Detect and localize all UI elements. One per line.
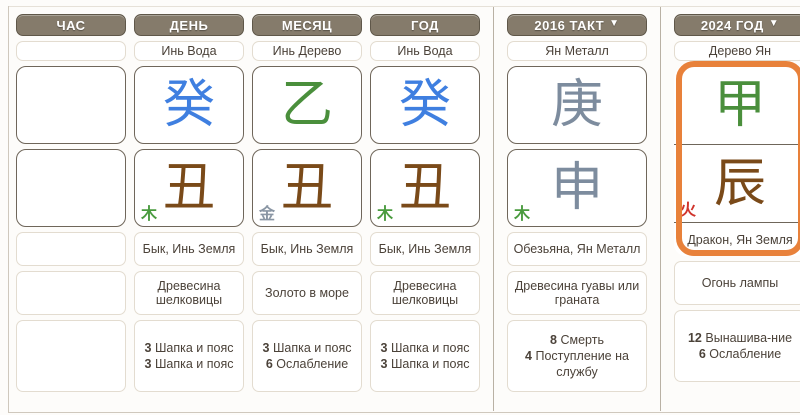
pillar-column-luck-2016: 2016 ТАКТ ▼ Ян Металл 庚 申 木 Обезьяна, Ян… bbox=[503, 0, 651, 415]
branch-glyph-cell-hour[interactable] bbox=[16, 149, 126, 227]
animal-cell-month: Бык, Инь Земля bbox=[252, 232, 362, 266]
stem-glyph-cell-day[interactable]: 癸 bbox=[134, 66, 244, 144]
pillar-header-day[interactable]: ДЕНЬ bbox=[134, 14, 244, 36]
branch-glyph-day: 丑 bbox=[163, 162, 215, 214]
natal-pillars-group: ЧАС ДЕНЬ bbox=[0, 0, 484, 415]
stars-cell-annual: 12 Вынашива-ние 6 Ослабление bbox=[674, 310, 800, 382]
stem-glyph-cell-annual[interactable]: 甲 bbox=[674, 66, 800, 144]
annual-year-selector[interactable]: 2024 ГОД ▼ bbox=[674, 14, 800, 36]
annual-pillar-highlight-wrap: 甲 辰 火 Дракон, Ян Земля bbox=[674, 61, 800, 256]
pillar-header-year-label: ГОД bbox=[411, 18, 439, 33]
stars-cell-hour bbox=[16, 320, 126, 392]
stem-glyph-cell-hour[interactable] bbox=[16, 66, 126, 144]
nayin-cell-year: Древесина шелковицы bbox=[370, 271, 480, 315]
pillar-column-day: ДЕНЬ Инь Вода 癸 丑 木 Бык, Инь Земля Древе… bbox=[130, 0, 248, 415]
luck-period-label: 2016 ТАКТ bbox=[534, 18, 604, 33]
star-line: 12 Вынашива-ние bbox=[688, 330, 792, 346]
nayin-text-luck: Древесина гуавы или граната bbox=[511, 279, 643, 307]
stem-name-day: Инь Вода bbox=[134, 41, 244, 61]
pillar-header-hour[interactable]: ЧАС bbox=[16, 14, 126, 36]
pillar-column-hour: ЧАС bbox=[12, 0, 130, 415]
stem-name-annual: Дерево Ян bbox=[674, 41, 800, 61]
stem-name-luck-text: Ян Металл bbox=[545, 44, 609, 58]
star-line: 3 Шапка и пояс bbox=[145, 356, 234, 372]
star-label: Вынашива-ние bbox=[705, 331, 792, 345]
stars-cell-day: 3 Шапка и пояс 3 Шапка и пояс bbox=[134, 320, 244, 392]
star-line: 3 Шапка и пояс bbox=[381, 356, 470, 372]
stem-glyph-month: 乙 bbox=[281, 79, 333, 131]
nayin-cell-month: Золото в море bbox=[252, 271, 362, 315]
star-label: Ослабление bbox=[709, 347, 781, 361]
branch-glyph-cell-day[interactable]: 丑 木 bbox=[134, 149, 244, 227]
animal-text-year: Бык, Инь Земля bbox=[379, 242, 472, 256]
pillar-header-hour-label: ЧАС bbox=[56, 18, 85, 33]
hidden-element-glyph-month: 金 bbox=[259, 206, 275, 222]
branch-glyph-year: 丑 bbox=[399, 162, 451, 214]
pillar-column-year-2024: 2024 ГОД ▼ Дерево Ян 甲 辰 火 Дракон, Ян Зе… bbox=[670, 0, 800, 415]
star-label: Ослабление bbox=[276, 357, 348, 371]
column-separator bbox=[493, 6, 494, 411]
stem-name-luck: Ян Металл bbox=[507, 41, 647, 61]
nayin-text-day: Древесина шелковицы bbox=[138, 279, 240, 307]
animal-text-day: Бык, Инь Земля bbox=[143, 242, 236, 256]
nayin-text-month: Золото в море bbox=[265, 286, 349, 300]
stem-glyph-cell-month[interactable]: 乙 bbox=[252, 66, 362, 144]
animal-text-luck: Обезьяна, Ян Металл bbox=[514, 242, 641, 256]
animal-text-annual: Дракон, Ян Земля bbox=[687, 233, 792, 247]
stem-glyph-day: 癸 bbox=[163, 79, 215, 131]
column-separator bbox=[660, 6, 661, 411]
star-number: 8 bbox=[550, 333, 557, 347]
star-line: 6 Ослабление bbox=[266, 356, 348, 372]
branch-glyph-month: 丑 bbox=[281, 162, 333, 214]
pillar-header-year[interactable]: ГОД bbox=[370, 14, 480, 36]
branch-glyph-luck: 申 bbox=[551, 162, 603, 214]
nayin-cell-annual: Огонь лампы bbox=[674, 261, 800, 305]
branch-glyph-cell-luck[interactable]: 申 木 bbox=[507, 149, 647, 227]
star-label: Шапка и пояс bbox=[391, 357, 470, 371]
hidden-element-glyph-annual: 火 bbox=[680, 202, 696, 218]
stem-name-hour bbox=[16, 41, 126, 61]
stem-glyph-year: 癸 bbox=[399, 79, 451, 131]
stem-name-year: Инь Вода bbox=[370, 41, 480, 61]
stem-name-month-text: Инь Дерево bbox=[273, 44, 342, 58]
hidden-element-glyph-day: 木 bbox=[141, 206, 157, 222]
star-label: Шапка и пояс bbox=[273, 341, 352, 355]
animal-cell-annual: Дракон, Ян Земля bbox=[674, 222, 800, 256]
branch-glyph-cell-month[interactable]: 丑 金 bbox=[252, 149, 362, 227]
pillar-header-day-label: ДЕНЬ bbox=[170, 18, 209, 33]
stem-name-annual-text: Дерево Ян bbox=[709, 44, 771, 58]
stem-name-day-text: Инь Вода bbox=[161, 44, 216, 58]
stem-glyph-cell-luck[interactable]: 庚 bbox=[507, 66, 647, 144]
pillar-column-month: МЕСЯЦ Инь Дерево 乙 丑 金 Бык, Инь Земля Зо… bbox=[248, 0, 366, 415]
pillar-header-month-label: МЕСЯЦ bbox=[282, 18, 332, 33]
hidden-element-glyph-year: 木 bbox=[377, 206, 393, 222]
branch-glyph-cell-annual[interactable]: 辰 火 bbox=[674, 144, 800, 222]
bazi-chart-board: ЧАС ДЕНЬ bbox=[0, 0, 800, 415]
star-line: 3 Шапка и пояс bbox=[381, 340, 470, 356]
stem-glyph-luck: 庚 bbox=[551, 79, 603, 131]
star-number: 3 bbox=[145, 357, 152, 371]
nayin-text-annual: Огонь лампы bbox=[702, 276, 778, 290]
star-label: Поступление на службу bbox=[535, 349, 628, 379]
luck-period-selector[interactable]: 2016 ТАКТ ▼ bbox=[507, 14, 647, 36]
star-label: Смерть bbox=[560, 333, 604, 347]
animal-cell-year: Бык, Инь Земля bbox=[370, 232, 480, 266]
stars-cell-year: 3 Шапка и пояс 3 Шапка и пояс bbox=[370, 320, 480, 392]
stem-name-year-text: Инь Вода bbox=[397, 44, 452, 58]
animal-cell-luck: Обезьяна, Ян Металл bbox=[507, 232, 647, 266]
nayin-cell-day: Древесина шелковицы bbox=[134, 271, 244, 315]
stem-glyph-cell-year[interactable]: 癸 bbox=[370, 66, 480, 144]
hidden-element-glyph-luck: 木 bbox=[514, 206, 530, 222]
animal-cell-day: Бык, Инь Земля bbox=[134, 232, 244, 266]
stem-name-month: Инь Дерево bbox=[252, 41, 362, 61]
star-number: 3 bbox=[381, 357, 388, 371]
pillar-header-month[interactable]: МЕСЯЦ bbox=[252, 14, 362, 36]
luck-pillar-group: 2016 ТАКТ ▼ Ян Металл 庚 申 木 Обезьяна, Ян… bbox=[503, 0, 651, 415]
star-line: 3 Шапка и пояс bbox=[145, 340, 234, 356]
nayin-cell-luck: Древесина гуавы или граната bbox=[507, 271, 647, 315]
star-number: 3 bbox=[145, 341, 152, 355]
star-line: 4 Поступление на службу bbox=[511, 348, 643, 380]
star-number: 3 bbox=[381, 341, 388, 355]
stars-cell-month: 3 Шапка и пояс 6 Ослабление bbox=[252, 320, 362, 392]
annual-pillar-group: 2024 ГОД ▼ Дерево Ян 甲 辰 火 Дракон, Ян Зе… bbox=[670, 0, 800, 415]
star-line: 8 Смерть bbox=[550, 332, 604, 348]
animal-text-month: Бык, Инь Земля bbox=[261, 242, 354, 256]
star-line: 3 Шапка и пояс bbox=[263, 340, 352, 356]
branch-glyph-cell-year[interactable]: 丑 木 bbox=[370, 149, 480, 227]
stem-glyph-annual: 甲 bbox=[714, 79, 766, 131]
stars-cell-luck: 8 Смерть 4 Поступление на службу bbox=[507, 320, 647, 392]
pillar-column-year: ГОД Инь Вода 癸 丑 木 Бык, Инь Земля Древес… bbox=[366, 0, 484, 415]
star-line: 6 Ослабление bbox=[699, 346, 781, 362]
branch-glyph-annual: 辰 bbox=[714, 158, 766, 210]
chevron-down-icon: ▼ bbox=[769, 19, 779, 29]
nayin-cell-hour bbox=[16, 271, 126, 315]
star-label: Шапка и пояс bbox=[155, 357, 234, 371]
star-label: Шапка и пояс bbox=[155, 341, 234, 355]
star-label: Шапка и пояс bbox=[391, 341, 470, 355]
star-number: 3 bbox=[263, 341, 270, 355]
star-number: 6 bbox=[266, 357, 273, 371]
nayin-text-year: Древесина шелковицы bbox=[374, 279, 476, 307]
annual-year-label: 2024 ГОД bbox=[701, 18, 764, 33]
annual-pillar-stack: 甲 辰 火 Дракон, Ян Земля bbox=[674, 66, 800, 256]
star-number: 12 bbox=[688, 331, 702, 345]
chevron-down-icon: ▼ bbox=[609, 19, 619, 29]
animal-cell-hour bbox=[16, 232, 126, 266]
star-number: 6 bbox=[699, 347, 706, 361]
star-number: 4 bbox=[525, 349, 532, 363]
